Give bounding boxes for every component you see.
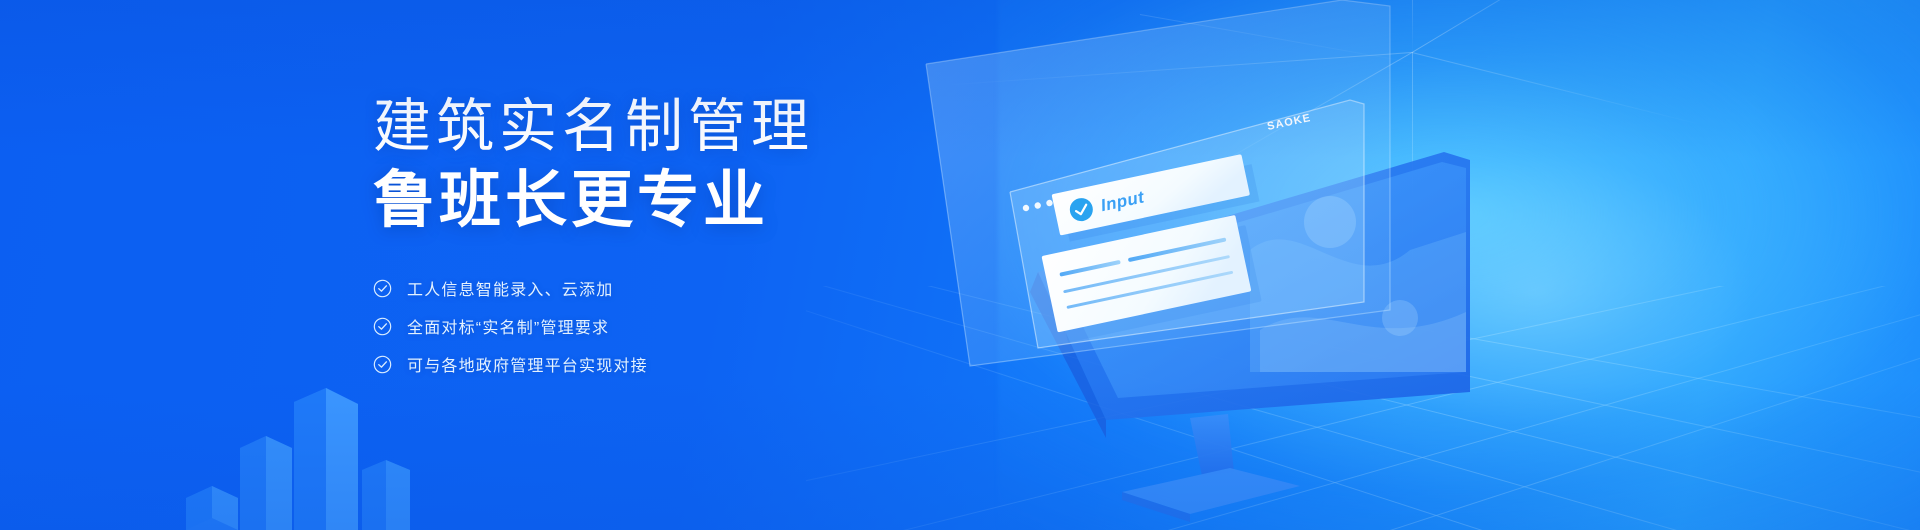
vignette-overlay xyxy=(0,0,1920,530)
promo-banner: 建筑实名制管理 鲁班长更专业 工人信息智能录入、云添加 全面对标“实名制”管理要… xyxy=(0,0,1920,530)
